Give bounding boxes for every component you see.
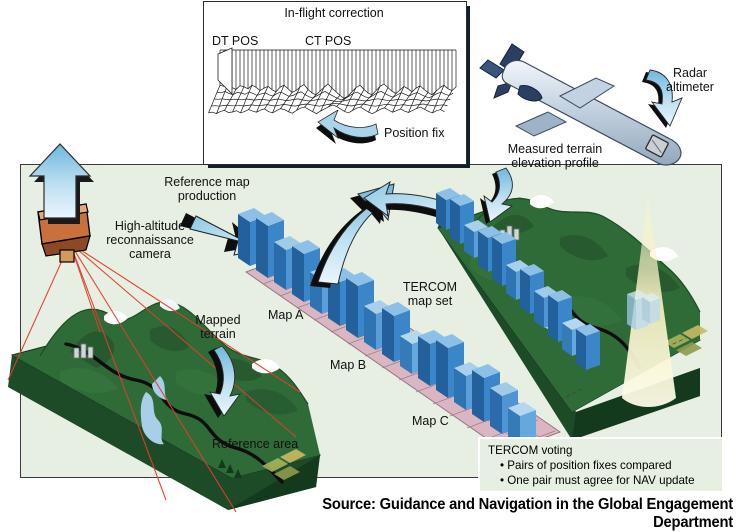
inset-title: In-flight correction	[203, 6, 465, 20]
label-map-a: Map A	[268, 308, 303, 322]
label-ct-pos: CT POS	[305, 34, 351, 48]
voting-bullet-1: • Pairs of position fixes compared	[500, 459, 672, 472]
label-dt-pos: DT POS	[212, 34, 258, 48]
label-mapped-terrain: Mapped terrain	[182, 313, 254, 341]
tercom-voting-box: TERCOM voting • Pairs of position fixes …	[478, 437, 722, 491]
diagram-canvas: In-flight correction DT POS CT POS Posit…	[0, 0, 740, 525]
voting-bullet-2: • One pair must agree for NAV update	[500, 474, 695, 487]
label-map-b: Map B	[330, 358, 366, 372]
label-radar-altimeter: Radar altimeter	[650, 66, 730, 94]
label-measured-terrain: Measured terrain elevation profile	[495, 142, 615, 170]
source-line: Source: Guidance and Navigation in the G…	[253, 496, 733, 532]
label-reference-area: Reference area	[212, 437, 298, 451]
label-position-fix: Position fix	[384, 126, 444, 140]
label-map-c: Map C	[412, 414, 449, 428]
label-reference-map-production: Reference map production	[148, 175, 266, 203]
label-high-altitude-camera: High-altitude reconnaissance camera	[98, 219, 202, 261]
arrow-position-fix	[312, 110, 382, 148]
label-tercom-map-set: TERCOM map set	[390, 280, 470, 308]
reference-terrain-block	[8, 299, 320, 510]
voting-title: TERCOM voting	[488, 444, 572, 457]
inflight-correction-inset	[203, 1, 467, 165]
